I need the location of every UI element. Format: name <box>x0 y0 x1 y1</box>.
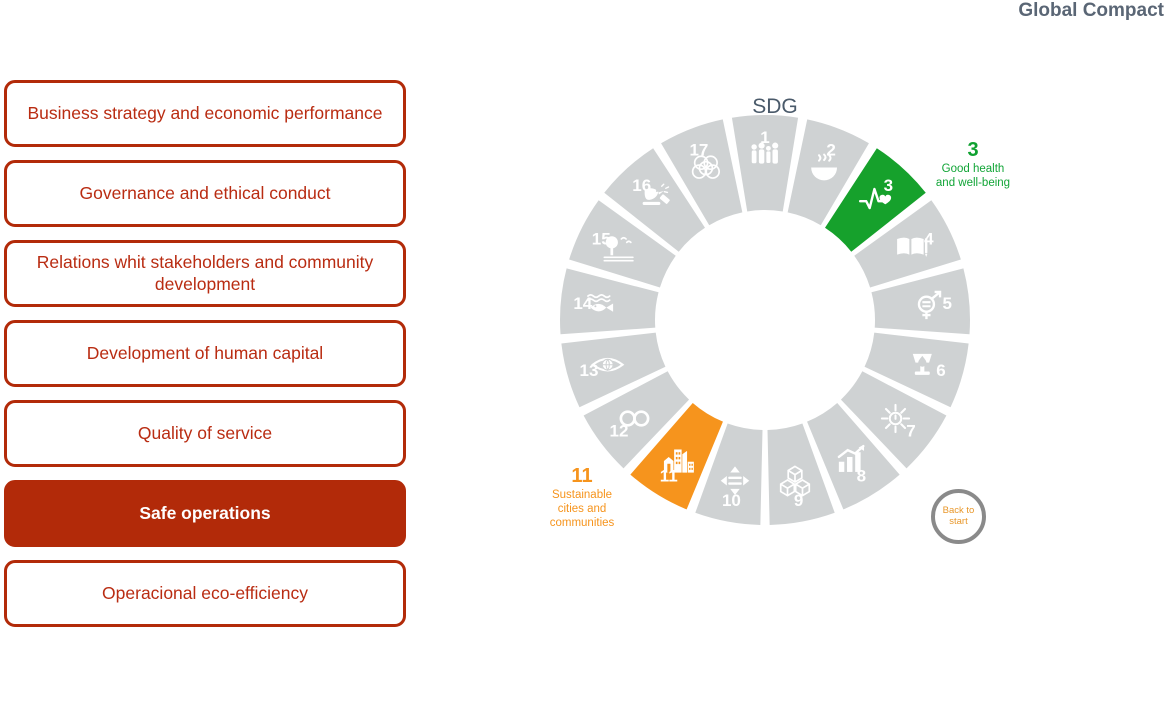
sdg-segment-number-2: 2 <box>826 140 835 159</box>
sdg-wheel-segments <box>560 115 970 525</box>
topic-button-5[interactable]: Safe operations <box>4 480 406 547</box>
sdg-segment-number-1: 1 <box>760 128 769 147</box>
topic-button-2[interactable]: Relations whit stakeholders and communit… <box>4 240 406 307</box>
back-to-start-button[interactable]: Back to start <box>931 489 986 544</box>
global-compact-panel: Global Compact 1Respect 2Ensure 3Support… <box>1010 0 1170 708</box>
topic-button-label: Safe operations <box>139 503 270 524</box>
sdg-segment-number-8: 8 <box>857 467 866 486</box>
sdg-segment-number-15: 15 <box>592 229 611 248</box>
topic-button-6[interactable]: Operacional eco-efficiency <box>4 560 406 627</box>
topic-button-label: Quality of service <box>138 423 272 444</box>
sun-power-icon <box>882 405 909 432</box>
sdg-segment-number-12: 12 <box>610 421 629 440</box>
callout-goal-11: 11 Sustainable cities and communities <box>534 466 630 530</box>
back-to-start-line2: start <box>949 516 967 527</box>
sdg-segment-number-9: 9 <box>794 491 803 510</box>
callout-goal-11-number: 11 <box>534 466 630 487</box>
material-topics-list: Business strategy and economic performan… <box>4 80 406 640</box>
topic-button-label: Development of human capital <box>87 343 323 364</box>
sdg-segment-number-14: 14 <box>573 294 592 313</box>
topic-button-4[interactable]: Quality of service <box>4 400 406 467</box>
callout-goal-11-line3: communities <box>550 517 615 529</box>
sdg-segment-number-10: 10 <box>722 491 741 510</box>
topic-button-label: Governance and ethical conduct <box>80 183 331 204</box>
callout-goal-3-line1: Good health <box>942 163 1005 175</box>
callout-goal-3-line2: and well-being <box>936 177 1010 189</box>
sdg-segment-number-5: 5 <box>942 294 951 313</box>
topic-button-3[interactable]: Development of human capital <box>4 320 406 387</box>
topic-button-0[interactable]: Business strategy and economic performan… <box>4 80 406 147</box>
sdg-segment-number-6: 6 <box>936 361 945 380</box>
sdg-segment-number-13: 13 <box>580 361 599 380</box>
sdg-segment-number-4: 4 <box>924 229 934 248</box>
topic-button-label: Business strategy and economic performan… <box>27 103 382 124</box>
sdg-segment-number-16: 16 <box>632 176 651 195</box>
sdg-segment-number-7: 7 <box>906 421 915 440</box>
back-to-start-label: Back to start <box>943 506 975 528</box>
sdg-segment-number-11: 11 <box>660 467 678 486</box>
topic-button-label: Operacional eco-efficiency <box>102 583 308 604</box>
topic-button-label: Relations whit stakeholders and communit… <box>21 252 389 295</box>
sdg-segment-number-3: 3 <box>884 176 893 195</box>
back-to-start-line1: Back to <box>943 505 975 516</box>
callout-goal-11-line1: Sustainable <box>552 489 612 501</box>
topic-button-1[interactable]: Governance and ethical conduct <box>4 160 406 227</box>
global-compact-title: Global Compact <box>1010 0 1164 22</box>
sdg-segment-number-17: 17 <box>689 140 708 159</box>
callout-goal-11-line2: cities and <box>558 503 607 515</box>
